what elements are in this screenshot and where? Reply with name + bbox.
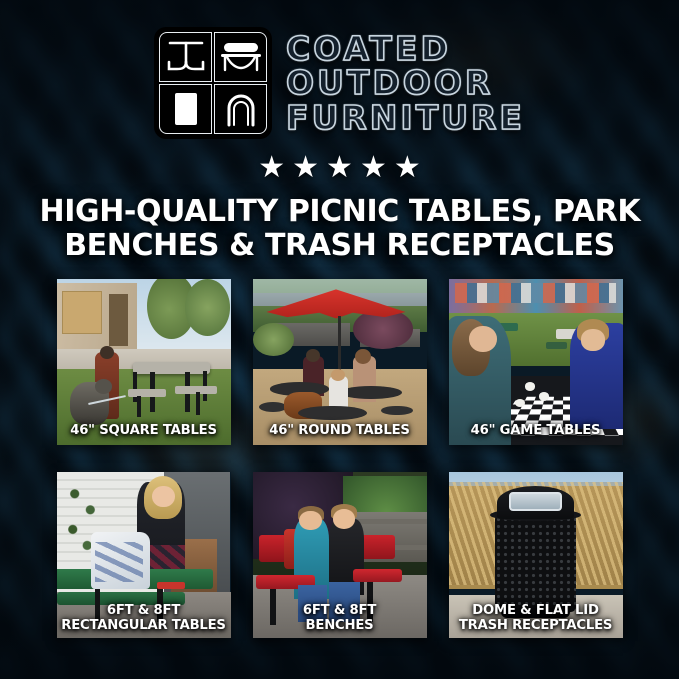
- brand-line-1: COATED: [286, 32, 525, 66]
- logo-icon-grid: [154, 27, 272, 139]
- product-caption-benches: 6FT & 8FT BENCHES: [253, 604, 427, 633]
- star-icon-5: ★: [394, 153, 421, 183]
- product-tile-game-tables[interactable]: 46" GAME TABLES: [449, 279, 623, 445]
- product-tile-benches[interactable]: 6FT & 8FT BENCHES: [253, 472, 427, 638]
- picnic-table-icon: [159, 32, 212, 82]
- caption-line-1: 46" SQUARE TABLES: [57, 424, 231, 439]
- star-icon-4: ★: [360, 153, 387, 183]
- headline-line-2: BENCHES & TRASH RECEPTACLES: [40, 229, 640, 263]
- star-icon-2: ★: [292, 153, 319, 183]
- promo-banner: COATED OUTDOOR FURNITURE ★ ★ ★ ★ ★ HIGH-…: [0, 0, 679, 679]
- caption-line-2: BENCHES: [253, 619, 427, 634]
- product-tile-rectangular-tables[interactable]: 6FT & 8FT RECTANGULAR TABLES: [57, 472, 231, 638]
- product-caption-round-tables: 46" ROUND TABLES: [253, 424, 427, 439]
- product-tile-trash-receptacles[interactable]: DOME & FLAT LID TRASH RECEPTACLES: [449, 472, 623, 638]
- star-icon-1: ★: [258, 153, 285, 183]
- brand-wordmark: COATED OUTDOOR FURNITURE: [286, 32, 525, 135]
- product-caption-game-tables: 46" GAME TABLES: [449, 424, 623, 439]
- product-grid: 46" SQUARE TABLES: [57, 279, 623, 638]
- caption-line-2: RECTANGULAR TABLES: [57, 619, 231, 634]
- product-tile-square-tables[interactable]: 46" SQUARE TABLES: [57, 279, 231, 445]
- headline-line-1: HIGH-QUALITY PICNIC TABLES, PARK: [40, 195, 640, 229]
- product-caption-rectangular-tables: 6FT & 8FT RECTANGULAR TABLES: [57, 604, 231, 633]
- product-tile-round-tables[interactable]: 46" ROUND TABLES: [253, 279, 427, 445]
- product-image-round-tables: [253, 279, 427, 445]
- caption-line-1: 46" GAME TABLES: [449, 424, 623, 439]
- caption-line-1: 6FT & 8FT: [253, 604, 427, 619]
- product-image-square-tables: [57, 279, 231, 445]
- headline: HIGH-QUALITY PICNIC TABLES, PARK BENCHES…: [40, 195, 640, 263]
- star-rating: ★ ★ ★ ★ ★: [258, 153, 421, 183]
- product-caption-square-tables: 46" SQUARE TABLES: [57, 424, 231, 439]
- banner-content: COATED OUTDOOR FURNITURE ★ ★ ★ ★ ★ HIGH-…: [0, 0, 679, 679]
- bike-rack-icon: [214, 84, 267, 134]
- brand-logo: COATED OUTDOOR FURNITURE: [154, 24, 525, 142]
- caption-line-1: 46" ROUND TABLES: [253, 424, 427, 439]
- product-image-game-tables: [449, 279, 623, 445]
- brand-line-2: OUTDOOR: [286, 66, 525, 100]
- bench-icon: [214, 32, 267, 82]
- trash-receptacle-icon: [159, 84, 212, 134]
- caption-line-2: TRASH RECEPTACLES: [449, 619, 623, 634]
- star-icon-3: ★: [326, 153, 353, 183]
- product-caption-trash-receptacles: DOME & FLAT LID TRASH RECEPTACLES: [449, 604, 623, 633]
- caption-line-1: DOME & FLAT LID: [449, 604, 623, 619]
- brand-line-3: FURNITURE: [286, 101, 525, 135]
- caption-line-1: 6FT & 8FT: [57, 604, 231, 619]
